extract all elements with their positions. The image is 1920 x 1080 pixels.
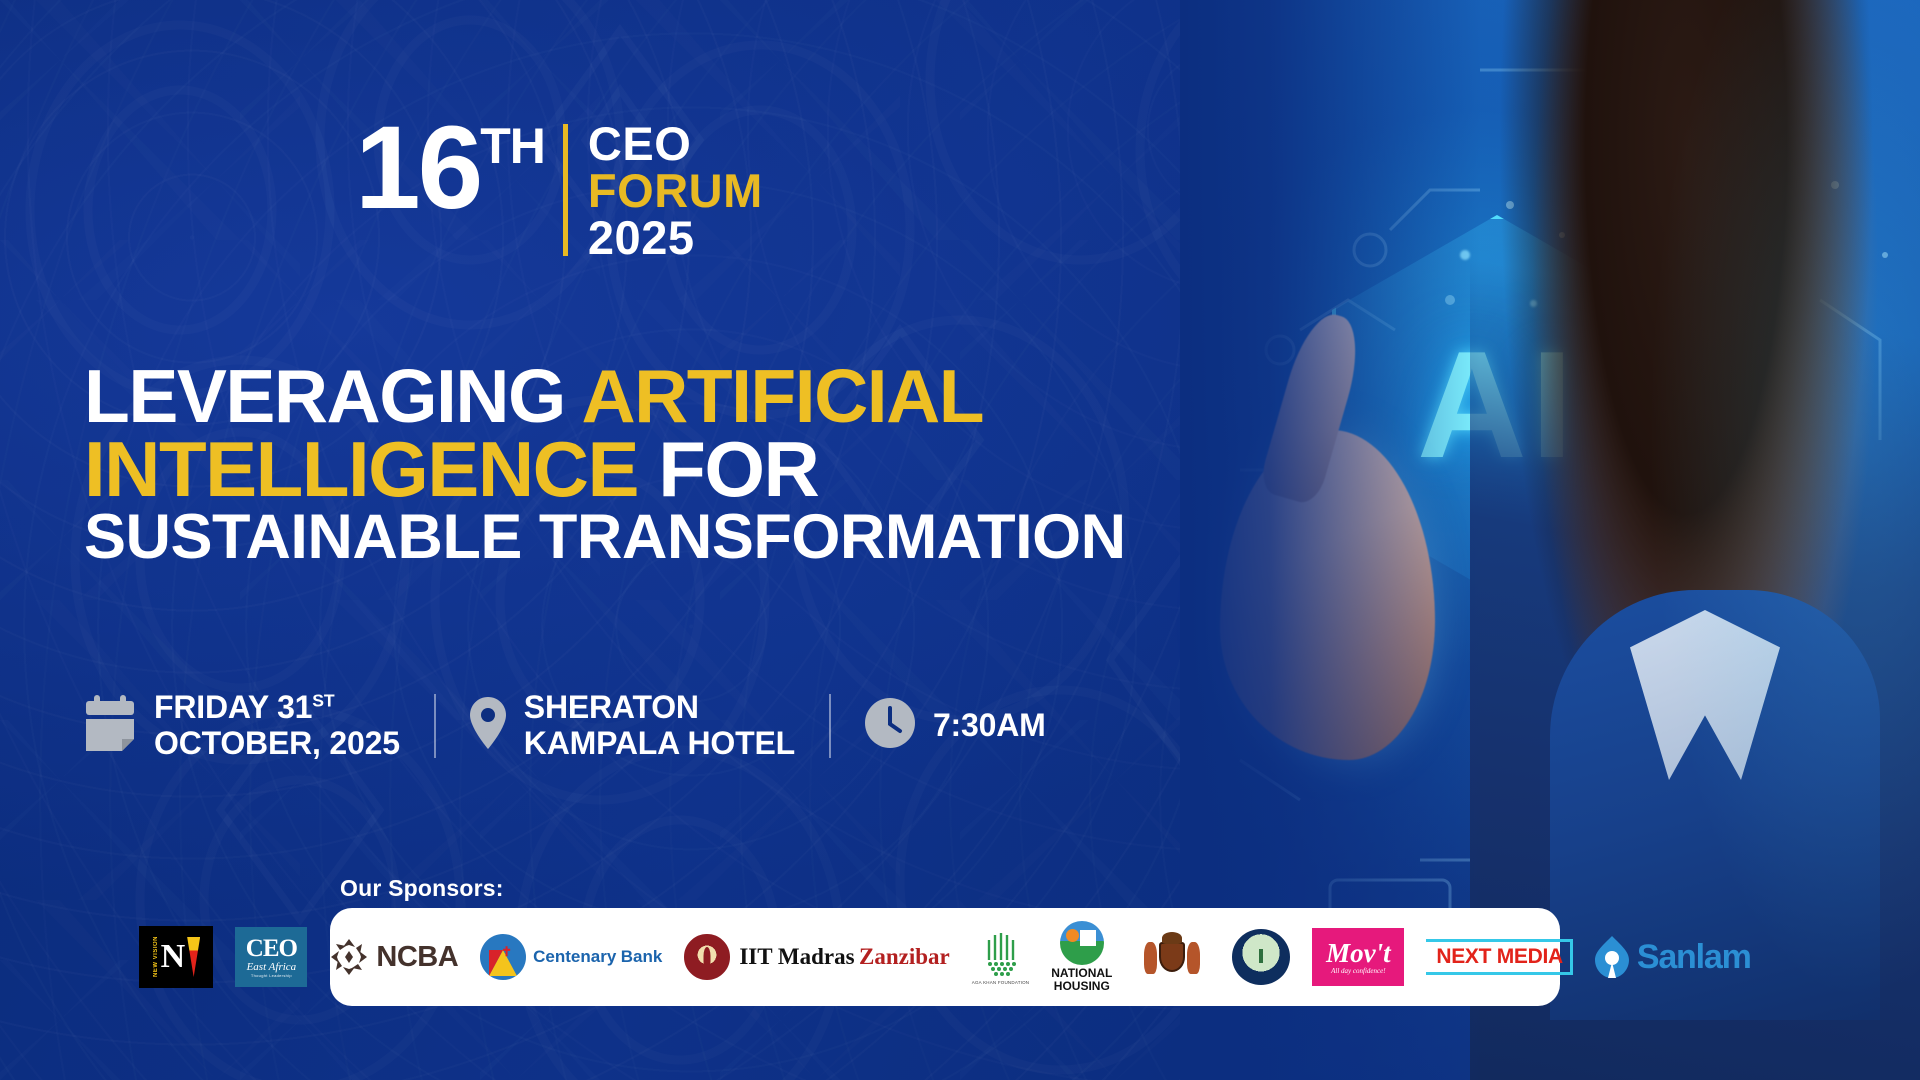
event-date: FRIDAY 31ST OCTOBER, 2025: [84, 690, 400, 762]
centenary-wordmark: Centenary: [533, 947, 616, 966]
national-housing-icon: [1060, 921, 1104, 965]
sponsor-logo-movit[interactable]: Mov't All day confidence!: [1312, 928, 1404, 986]
iit-sub: Zanzibar: [859, 944, 950, 969]
event-date-line1: FRIDAY 31: [154, 689, 312, 725]
ceo-east-africa-sub: East Africa: [247, 961, 297, 973]
clock-icon: [865, 698, 915, 753]
forum-forum-label: FORUM: [588, 167, 763, 214]
ncba-weave-icon: [329, 937, 369, 977]
edition-lockup: 16 TH CEO FORUM 2025: [355, 120, 763, 261]
new-vision-mark: N: [161, 940, 186, 974]
centenary-emblem-icon: ✝: [480, 934, 526, 980]
centenary-sub: Bank: [621, 947, 663, 966]
event-date-line2: OCTOBER, 2025: [154, 726, 400, 762]
sponsor-logo-centenary-bank[interactable]: ✝ Centenary Bank: [480, 934, 662, 980]
coat-of-arms-icon: [1159, 942, 1185, 972]
calendar-icon: [84, 695, 136, 756]
edition-divider: [563, 124, 568, 256]
sponsors-label: Our Sponsors:: [340, 875, 504, 902]
headline-word-intelligence: INTELLIGENCE: [84, 425, 638, 513]
headline-word-for: FOR: [658, 425, 818, 513]
next-media-wordmark: NEXT MEDIA: [1436, 945, 1563, 969]
aga-khan-icon: [977, 930, 1025, 978]
iit-wordmark: IIT Madras: [739, 944, 854, 969]
ncba-wordmark: NCBA: [376, 941, 458, 974]
event-banner: AI 16 TH CEO FORUM 2025: [0, 0, 1920, 1080]
event-time-value: 7:30AM: [933, 708, 1046, 744]
iit-seal-icon: [684, 934, 730, 980]
ceo-east-africa-wordmark: CEO: [246, 936, 297, 961]
new-vision-wordmark: NEW VISION: [153, 936, 159, 977]
event-venue: SHERATON KAMPALA HOTEL: [470, 690, 795, 762]
sponsor-logo-ncba[interactable]: NCBA: [329, 937, 458, 977]
edition-ordinal: TH: [480, 126, 545, 167]
event-details-bar: FRIDAY 31ST OCTOBER, 2025 SHERATON KAMPA…: [84, 690, 1046, 762]
aga-khan-wordmark: AGA KHAN FOUNDATION: [972, 980, 1029, 985]
movit-wordmark: Mov't: [1326, 940, 1391, 967]
national-housing-sub: HOUSING: [1054, 979, 1110, 993]
sponsor-logo-uganda-coat-of-arms[interactable]: [1134, 928, 1210, 986]
ceo-east-africa-tagline: Thought Leadership: [251, 973, 292, 978]
event-venue-line2: KAMPALA HOTEL: [524, 726, 795, 762]
location-pin-icon: [470, 697, 506, 754]
sponsor-logo-new-vision[interactable]: NEW VISION N: [139, 926, 213, 988]
new-vision-flag-icon: [187, 937, 200, 977]
sponsor-logo-iit-madras-zanzibar[interactable]: IIT Madras Zanzibar: [684, 934, 949, 980]
sponsor-logo-aga-khan-foundation[interactable]: AGA KHAN FOUNDATION: [972, 930, 1029, 985]
sanlam-emblem-icon: [1595, 936, 1629, 978]
sponsor-logo-sanlam[interactable]: Sanlam: [1595, 936, 1751, 978]
details-divider-1: [434, 694, 436, 758]
sponsor-logo-next-media[interactable]: NEXT MEDIA: [1426, 939, 1573, 975]
event-date-ordinal: ST: [312, 690, 334, 710]
sponsor-logo-ceo-east-africa[interactable]: CEO East Africa Thought Leadership: [235, 927, 307, 987]
sponsors-strip: NEW VISION N CEO East Africa Thought Lea…: [330, 908, 1560, 1006]
forum-ceo-label: CEO: [588, 120, 763, 167]
details-divider-2: [829, 694, 831, 758]
event-time: 7:30AM: [865, 698, 1046, 753]
headline-block: LEVERAGING ARTIFICIAL INTELLIGENCE FOR S…: [84, 360, 1126, 567]
event-venue-line1: SHERATON: [524, 690, 795, 726]
sponsor-logo-national-housing[interactable]: NATIONAL HOUSING: [1051, 921, 1112, 992]
movit-tagline: All day confidence!: [1331, 967, 1385, 975]
sponsor-logo-university-seal[interactable]: [1232, 929, 1290, 985]
forum-year-label: 2025: [588, 214, 763, 261]
edition-number: 16: [355, 120, 480, 217]
sanlam-wordmark: Sanlam: [1637, 938, 1751, 977]
headline-line-sustainable-transformation: SUSTAINABLE TRANSFORMATION: [84, 502, 1126, 572]
